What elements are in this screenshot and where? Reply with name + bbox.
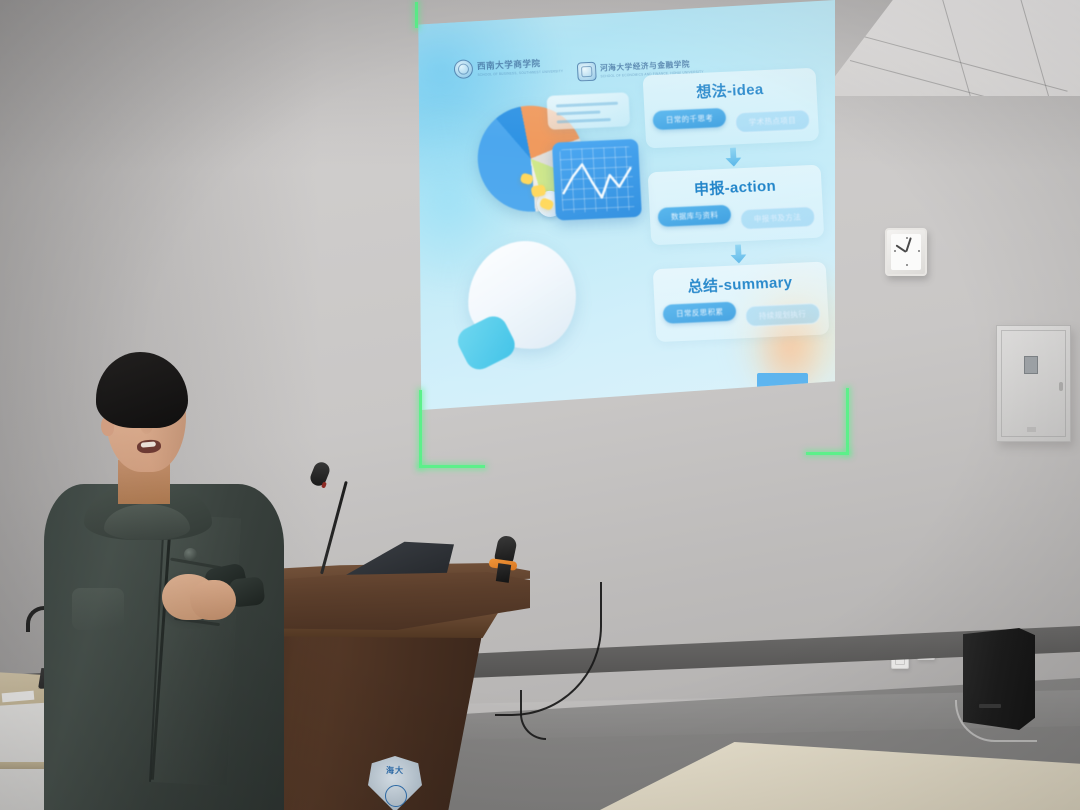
flow-title-action: 申报-action bbox=[656, 173, 813, 201]
laser-marker-top-left-v bbox=[415, 2, 418, 28]
flow-pill-summary-1: 日常反思积累 bbox=[663, 302, 737, 324]
lectern-university-emblem: 海大 bbox=[368, 756, 422, 810]
hair bbox=[96, 352, 188, 428]
panel-label bbox=[1027, 427, 1036, 432]
tablet-chart-graphic bbox=[552, 139, 642, 221]
flow-title-summary: 总结-summary bbox=[661, 270, 818, 298]
data-analysis-illustration bbox=[464, 97, 644, 342]
lecture-room-scene: 西南大学商学院 SCHOOL OF BUSINESS, SOUTHWEST UN… bbox=[0, 0, 1080, 810]
info-card-graphic bbox=[547, 92, 631, 130]
panel-window bbox=[1024, 356, 1038, 374]
projection-screen: 西南大学商学院 SCHOOL OF BUSINESS, SOUTHWEST UN… bbox=[415, 0, 835, 410]
arrow-down-icon bbox=[725, 147, 742, 167]
laser-marker-bottom-left-v bbox=[419, 390, 422, 468]
jacket-button bbox=[184, 548, 197, 561]
laser-marker-bottom-left-h bbox=[419, 465, 485, 468]
flow-title-idea: 想法-idea bbox=[651, 76, 808, 104]
laser-marker-bottom-right-h bbox=[806, 452, 849, 455]
flow-pill-action-1: 数据库与资料 bbox=[658, 205, 732, 227]
slide-flow-column: 想法-idea 日常的千思考 学术热点项目 申报-action 数据库与资料 申… bbox=[643, 68, 829, 346]
handheld-microphone-body bbox=[496, 563, 511, 583]
jacket-pocket bbox=[72, 588, 124, 630]
flow-pill-idea-1: 日常的千思考 bbox=[653, 108, 727, 130]
logo-unit-1: 西南大学商学院 SCHOOL OF BUSINESS, SOUTHWEST UN… bbox=[454, 55, 564, 79]
arrow-down-icon bbox=[730, 244, 747, 264]
line-chart-icon bbox=[559, 147, 634, 214]
speaker-brand-logo bbox=[979, 704, 1001, 708]
laser-marker-bottom-right-v bbox=[846, 388, 849, 454]
flow-section-idea: 想法-idea 日常的千思考 学术热点项目 bbox=[643, 68, 819, 149]
slide-content: 西南大学商学院 SCHOOL OF BUSINESS, SOUTHWEST UN… bbox=[415, 0, 835, 410]
flow-pill-idea-2: 学术热点项目 bbox=[735, 109, 811, 133]
university-seal-icon bbox=[454, 59, 474, 79]
wall-clock bbox=[885, 228, 927, 276]
emblem-ring-icon bbox=[385, 785, 407, 807]
flow-section-summary: 总结-summary 日常反思积累 持续规划执行 bbox=[653, 262, 829, 343]
panel-latch-icon[interactable] bbox=[1059, 382, 1063, 391]
university-seal-icon bbox=[577, 61, 597, 81]
floor-speaker bbox=[963, 628, 1035, 730]
flow-pill-summary-2: 持续规划执行 bbox=[745, 303, 821, 327]
lectern-emblem-text: 海大 bbox=[368, 765, 422, 776]
speaker-person bbox=[44, 352, 284, 810]
flow-section-action: 申报-action 数据库与资料 申报书及方法 bbox=[648, 165, 824, 246]
electrical-panel[interactable] bbox=[996, 325, 1071, 442]
right-hand bbox=[190, 580, 236, 620]
flow-pill-action-2: 申报书及方法 bbox=[740, 206, 816, 230]
